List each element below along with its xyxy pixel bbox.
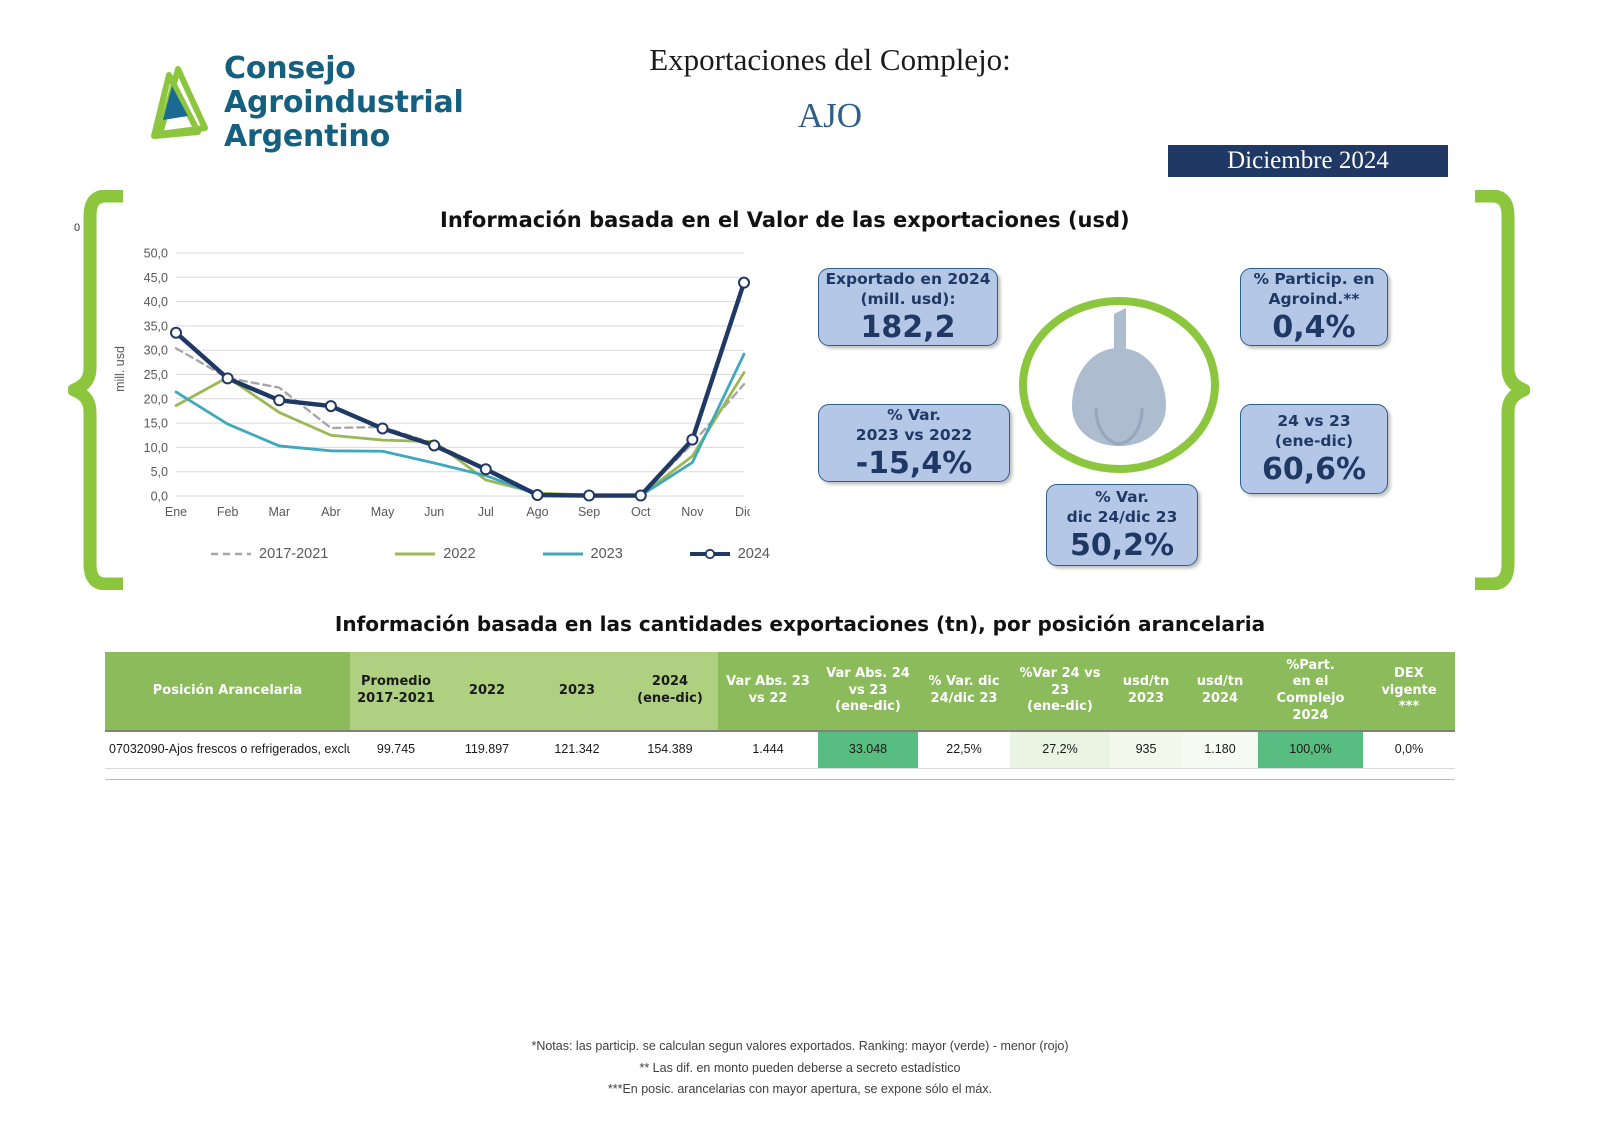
svg-text:Ene: Ene	[165, 505, 187, 519]
svg-text:Oct: Oct	[631, 505, 651, 519]
th-line: (ene-dic)	[821, 699, 915, 716]
chart-y-tick-labels: 0,05,010,015,020,025,030,035,040,045,050…	[144, 247, 168, 504]
th-line: en el	[1261, 674, 1360, 691]
cell-var-24-vs-23: 27,2%	[1010, 730, 1110, 768]
legend-swatch-dashed	[210, 549, 252, 559]
page-title-block: Exportaciones del Complejo: AJO	[560, 42, 1100, 136]
cell-var-dic: 22,5%	[918, 730, 1010, 768]
th-line: usd/tn	[1185, 674, 1255, 691]
th-line: Var Abs. 23	[721, 674, 815, 691]
corner-zero-mark: 0	[74, 222, 80, 234]
th-line: 24/dic 23	[921, 691, 1007, 708]
svg-text:Jul: Jul	[478, 505, 494, 519]
kpi-label-line: (ene-dic)	[1275, 432, 1353, 451]
svg-text:5,0: 5,0	[151, 465, 168, 479]
th-line: usd/tn	[1113, 674, 1179, 691]
th-line: (ene-dic)	[625, 691, 715, 708]
chart-y-axis-label: mill. usd	[113, 346, 127, 392]
legend-swatch-2023	[542, 549, 584, 559]
cell-dex: 0,0%	[1363, 730, 1455, 768]
th-line: Posición Arancelaria	[108, 683, 347, 700]
legend-item-2017-2021[interactable]: 2017-2021	[210, 546, 328, 562]
kpi-24-vs-23-ene-dic: 24 vs 23 (ene-dic) 60,6%	[1240, 404, 1388, 494]
kpi-value: -15,4%	[856, 447, 973, 480]
chart-series	[176, 283, 744, 496]
th-line: (ene-dic)	[1013, 699, 1107, 716]
footnote-1: *Notas: las particip. se calculan segun …	[0, 1036, 1600, 1058]
kpi-value: 60,6%	[1262, 453, 1366, 486]
logo-line-3: Argentino	[224, 120, 464, 154]
svg-text:Nov: Nov	[681, 505, 704, 519]
legend-swatch-2022	[394, 549, 436, 559]
svg-text:May: May	[371, 505, 395, 519]
exports-line-chart: 0,05,010,015,020,025,030,035,040,045,050…	[110, 241, 750, 531]
svg-text:35,0: 35,0	[144, 319, 168, 333]
kpi-var-dic-24-dic-23: % Var. dic 24/dic 23 50,2%	[1046, 484, 1198, 566]
th-var-24-vs-23-ene-dic[interactable]: %Var 24 vs 23 (ene-dic)	[1010, 652, 1110, 730]
th-line: 2024	[625, 674, 715, 691]
svg-text:30,0: 30,0	[144, 344, 168, 358]
legend-item-2023[interactable]: 2023	[542, 546, 623, 562]
chart-panel: Información basada en el Valor de las ex…	[110, 196, 800, 586]
svg-text:Ago: Ago	[526, 505, 548, 519]
th-usd-tn-2024[interactable]: usd/tn 2024	[1182, 652, 1258, 730]
kpi-label-line: 24 vs 23	[1275, 412, 1353, 431]
cell-promedio: 99.745	[350, 730, 442, 768]
page-header: Consejo Agroindustrial Argentino Exporta…	[0, 0, 1600, 190]
svg-text:15,0: 15,0	[144, 417, 168, 431]
kpi-label-line: % Var.	[1067, 488, 1178, 507]
svg-text:10,0: 10,0	[144, 441, 168, 455]
cell-usdtn-2024: 1.180	[1182, 730, 1258, 768]
th-line: DEX	[1366, 666, 1452, 683]
svg-text:Feb: Feb	[217, 505, 239, 519]
kpi-label-line: 2023 vs 2022	[856, 426, 972, 445]
garlic-icon	[1014, 290, 1224, 480]
cell-var-abs-24-vs-23: 33.048	[818, 730, 918, 768]
cell-posicion: 07032090-Ajos frescos o refrigerados, ex…	[105, 730, 350, 768]
svg-text:40,0: 40,0	[144, 295, 168, 309]
tariff-position-table: Posición Arancelaria Promedio 2017-2021 …	[105, 652, 1455, 769]
legend-swatch-2024	[689, 548, 731, 560]
chart-title: Información basada en el Valor de las ex…	[440, 208, 1200, 232]
chart-x-tick-labels: EneFebMarAbrMayJunJulAgoSepOctNovDic	[165, 505, 750, 519]
svg-text:Mar: Mar	[269, 505, 291, 519]
th-line: Var Abs. 24	[821, 666, 915, 683]
th-line: Promedio	[353, 674, 439, 691]
kpi-value: 50,2%	[1070, 529, 1174, 562]
kpi-label-line: Exportado en 2024	[825, 270, 990, 289]
th-2024-ene-dic[interactable]: 2024 (ene-dic)	[622, 652, 718, 730]
kpi-exportado-en-2024: Exportado en 2024 (mill. usd): 182,2	[818, 268, 998, 346]
logo-text: Consejo Agroindustrial Argentino	[224, 52, 464, 154]
footnote-3: ***En posic. arancelarias con mayor aper…	[0, 1079, 1600, 1101]
svg-text:Dic: Dic	[735, 505, 750, 519]
th-line: Complejo	[1261, 691, 1360, 708]
kpi-label: % Particip. en Agroind.**	[1253, 270, 1374, 309]
kpi-value: 0,4%	[1272, 311, 1355, 344]
th-line: 2017-2021	[353, 691, 439, 708]
th-line: ***	[1366, 699, 1452, 716]
th-part-complejo-2024[interactable]: %Part. en el Complejo 2024	[1258, 652, 1363, 730]
legend-item-2022[interactable]: 2022	[394, 546, 475, 562]
cell-2023: 121.342	[532, 730, 622, 768]
svg-text:0,0: 0,0	[151, 490, 168, 504]
kpi-label: 24 vs 23 (ene-dic)	[1275, 412, 1353, 451]
th-line: 2024	[1185, 691, 1255, 708]
page-subtitle: AJO	[560, 96, 1100, 136]
kpi-label-line: % Particip. en	[1253, 270, 1374, 289]
svg-text:Jun: Jun	[424, 505, 444, 519]
right-brace-decoration	[1468, 190, 1530, 590]
legend-label: 2024	[738, 546, 770, 562]
th-line: 2022	[445, 683, 529, 700]
th-var-abs-24-vs-23[interactable]: Var Abs. 24 vs 23 (ene-dic)	[818, 652, 918, 730]
cell-var-abs-23-vs-22: 1.444	[718, 730, 818, 768]
legend-item-2024[interactable]: 2024	[689, 546, 770, 562]
th-line: 2024	[1261, 708, 1360, 725]
th-line: %Part.	[1261, 658, 1360, 675]
logo-mark-icon	[148, 66, 210, 140]
th-2023[interactable]: 2023	[532, 652, 622, 730]
tariff-position-table-wrap: Posición Arancelaria Promedio 2017-2021 …	[105, 652, 1455, 769]
svg-text:45,0: 45,0	[144, 271, 168, 285]
svg-text:50,0: 50,0	[144, 247, 168, 261]
kpi-label-line: Agroind.**	[1253, 290, 1374, 309]
date-badge: Diciembre 2024	[1168, 145, 1448, 177]
kpi-label-line: (mill. usd):	[825, 290, 990, 309]
th-line: 2023	[535, 683, 619, 700]
table-header-row: Posición Arancelaria Promedio 2017-2021 …	[105, 652, 1455, 730]
svg-text:25,0: 25,0	[144, 368, 168, 382]
th-posicion-arancelaria[interactable]: Posición Arancelaria	[105, 652, 350, 730]
footnote-2: ** Las dif. en monto pueden deberse a se…	[0, 1058, 1600, 1080]
th-line: vs 23	[821, 683, 915, 700]
kpi-value: 182,2	[861, 311, 956, 344]
logo-line-1: Consejo	[224, 52, 464, 86]
kpi-label-line: dic 24/dic 23	[1067, 508, 1178, 527]
kpi-var-2023-vs-2022: % Var. 2023 vs 2022 -15,4%	[818, 404, 1010, 482]
kpi-label: % Var. 2023 vs 2022	[856, 406, 972, 445]
th-line: vigente	[1366, 683, 1452, 700]
svg-text:Sep: Sep	[578, 505, 600, 519]
kpi-label-line: % Var.	[856, 406, 972, 425]
table-row[interactable]: 07032090-Ajos frescos o refrigerados, ex…	[105, 730, 1455, 768]
th-promedio-2017-2021[interactable]: Promedio 2017-2021	[350, 652, 442, 730]
legend-label: 2017-2021	[259, 546, 328, 562]
cell-part-complejo: 100,0%	[1258, 730, 1363, 768]
th-line: % Var. dic	[921, 674, 1007, 691]
logo-line-2: Agroindustrial	[224, 86, 464, 120]
footnotes: *Notas: las particip. se calculan segun …	[0, 1036, 1600, 1101]
cell-2024: 154.389	[622, 730, 718, 768]
table-section-title: Información basada en las cantidades exp…	[0, 612, 1600, 636]
legend-label: 2022	[443, 546, 475, 562]
th-usd-tn-2023[interactable]: usd/tn 2023	[1110, 652, 1182, 730]
kpi-participacion-agroindustria: % Particip. en Agroind.** 0,4%	[1240, 268, 1388, 346]
kpi-label: Exportado en 2024 (mill. usd):	[825, 270, 990, 309]
table-header-separator	[105, 730, 1455, 732]
logo: Consejo Agroindustrial Argentino	[148, 52, 464, 154]
cell-2022: 119.897	[442, 730, 532, 768]
th-var-abs-23-vs-22[interactable]: Var Abs. 23 vs 22	[718, 652, 818, 730]
table-bottom-rule	[105, 779, 1455, 780]
th-line: 2023	[1113, 691, 1179, 708]
chart-legend: 2017-2021 2022 2023 2024	[210, 546, 770, 562]
kpi-label: % Var. dic 24/dic 23	[1067, 488, 1178, 527]
th-line: vs 22	[721, 691, 815, 708]
th-2022[interactable]: 2022	[442, 652, 532, 730]
svg-text:20,0: 20,0	[144, 392, 168, 406]
th-var-dic-24-dic-23[interactable]: % Var. dic 24/dic 23	[918, 652, 1010, 730]
svg-text:Abr: Abr	[321, 505, 340, 519]
page-title: Exportaciones del Complejo:	[560, 42, 1100, 78]
th-dex-vigente[interactable]: DEX vigente ***	[1363, 652, 1455, 730]
cell-usdtn-2023: 935	[1110, 730, 1182, 768]
th-line: %Var 24 vs 23	[1013, 666, 1107, 699]
legend-label: 2023	[591, 546, 623, 562]
